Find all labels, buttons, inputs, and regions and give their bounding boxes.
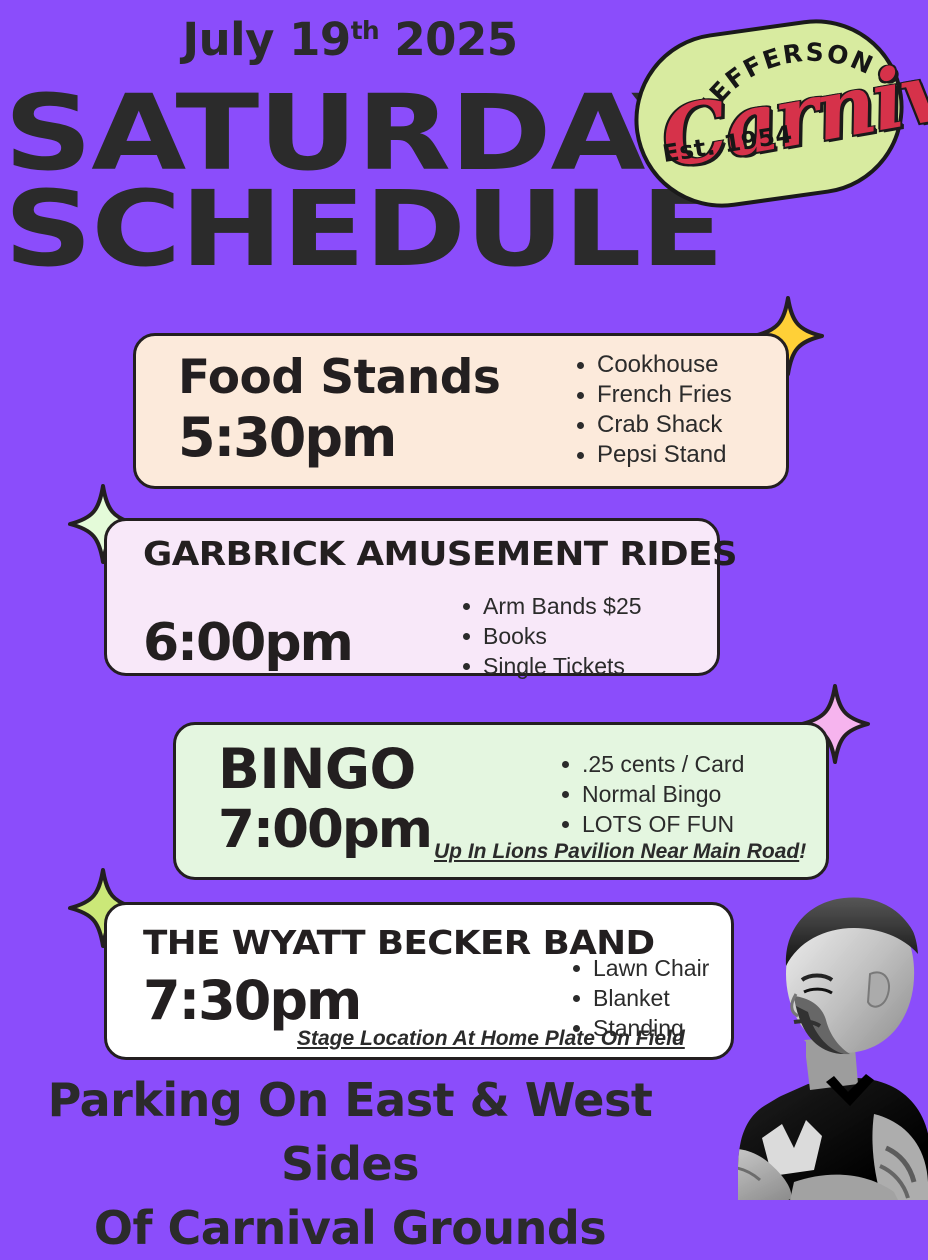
list-item: Blanket — [567, 983, 709, 1013]
list-item: Pepsi Stand — [571, 440, 732, 470]
list-item: Crab Shack — [571, 410, 732, 440]
list-item: French Fries — [571, 380, 732, 410]
event-date-ordinal: th — [351, 16, 379, 45]
card-location-note-suffix: ! — [799, 840, 806, 863]
schedule-card-wyatt-becker-band: THE WYATT BECKER BAND 7:30pm Lawn ChairB… — [104, 902, 734, 1060]
card-location-note-text: Up In Lions Pavilion Near Main Road — [434, 840, 799, 863]
list-item: Normal Bingo — [556, 779, 744, 809]
schedule-card-food-stands: Food Stands 5:30pm CookhouseFrench Fries… — [133, 333, 789, 489]
list-item: Cookhouse — [571, 350, 732, 380]
parking-note-line1: Parking On East & West Sides — [48, 1073, 653, 1191]
list-item: .25 cents / Card — [556, 749, 744, 779]
card-location-note-text: Stage Location At Home Plate On Field — [297, 1027, 685, 1050]
card-time: 5:30pm — [178, 406, 395, 469]
card-time: 7:30pm — [143, 969, 360, 1032]
saturday-schedule-poster: July 19th 2025 SATURDAY SCHEDULE JEFFERS… — [0, 0, 928, 1200]
card-title: BINGO — [218, 737, 416, 801]
list-item: Books — [457, 621, 642, 651]
list-item: LOTS OF FUN — [556, 809, 744, 839]
card-location-note: Up In Lions Pavilion Near Main Road! — [434, 840, 806, 864]
event-date-day: July 19 — [182, 13, 350, 66]
card-bullet-list: .25 cents / CardNormal BingoLOTS OF FUN — [556, 749, 744, 839]
list-item: Single Tickets — [457, 651, 642, 681]
jefferson-carnival-logo: JEFFERSON Carnival Est. 1954 — [634, 8, 914, 226]
event-date-year: 2025 — [394, 13, 517, 66]
card-title: Food Stands — [178, 350, 500, 405]
card-time: 7:00pm — [218, 799, 431, 860]
card-time: 6:00pm — [143, 613, 352, 673]
event-date: July 19th 2025 — [0, 13, 700, 66]
list-item: Arm Bands $25 — [457, 591, 642, 621]
schedule-card-bingo: BINGO 7:00pm .25 cents / CardNormal Bing… — [173, 722, 829, 880]
parking-note: Parking On East & West Sides Of Carnival… — [0, 1068, 700, 1260]
card-location-note: Stage Location At Home Plate On Field — [297, 1027, 685, 1051]
list-item: Lawn Chair — [567, 953, 709, 983]
card-bullet-list: Arm Bands $25BooksSingle Tickets — [457, 591, 642, 681]
performer-photo — [698, 870, 928, 1200]
parking-note-line2: Of Carnival Grounds — [0, 1196, 700, 1260]
card-bullet-list: CookhouseFrench FriesCrab ShackPepsi Sta… — [571, 350, 732, 470]
card-title: GARBRICK AMUSEMENT RIDES — [143, 537, 737, 570]
schedule-card-garbrick-rides: GARBRICK AMUSEMENT RIDES 6:00pm Arm Band… — [104, 518, 720, 676]
